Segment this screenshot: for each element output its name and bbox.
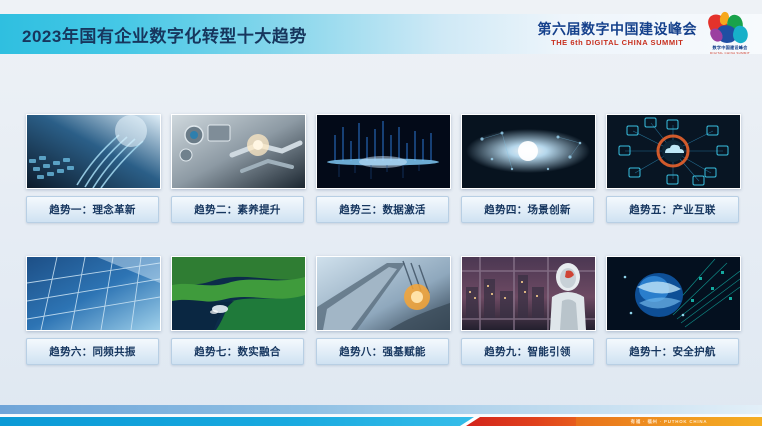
summit-logo-icon — [707, 12, 753, 44]
trend-card-6-label-box: 趋势六：同频共振 — [26, 338, 159, 365]
trend-card-5[interactable]: 趋势五：产业互联 — [606, 114, 739, 223]
footer-gradient-band — [0, 405, 762, 414]
trend-card-4-label-box: 趋势四：场景创新 — [461, 196, 594, 223]
trend-card-6[interactable]: 趋势六：同频共振 — [26, 256, 159, 365]
trend-row-1: 趋势一：理念革新 趋势二：素养提升 — [26, 114, 738, 223]
slide-root: 2023年国有企业数字化转型十大趋势 第六届数字中国建设峰会 THE 6th D… — [0, 0, 762, 429]
trend-card-1-label-box: 趋势一：理念革新 — [26, 196, 159, 223]
trend-card-7-label: 趋势七：数实融合 — [194, 344, 280, 359]
trend-card-4[interactable]: 趋势四：场景创新 — [461, 114, 594, 223]
trend-card-8-label-box: 趋势八：强基赋能 — [316, 338, 449, 365]
footer-bar-orange: 有福 · 福州 · PUTHOK CHINA — [576, 417, 762, 426]
trend-card-10-label: 趋势十：安全护航 — [629, 344, 715, 359]
trend-card-3-label-box: 趋势三：数据激活 — [316, 196, 449, 223]
footer-bar-blue — [0, 417, 474, 426]
trend-card-2-label-box: 趋势二：素养提升 — [171, 196, 304, 223]
blue-shield-circuit-image — [606, 256, 741, 331]
trend-card-10[interactable]: 趋势十：安全护航 — [606, 256, 739, 365]
trend-card-1[interactable]: 趋势一：理念革新 — [26, 114, 159, 223]
trend-card-9[interactable]: 趋势九：智能引领 — [461, 256, 594, 365]
trend-card-8-label: 趋势八：强基赋能 — [339, 344, 425, 359]
summit-banner: 第六届数字中国建设峰会 THE 6th DIGITAL CHINA SUMMIT… — [538, 12, 757, 56]
trend-card-2[interactable]: 趋势二：素养提升 — [171, 114, 304, 223]
trend-card-1-label: 趋势一：理念革新 — [49, 202, 135, 217]
summit-logo: 数字中国建设峰会 DIGITAL CHINA SUMMIT — [704, 12, 756, 56]
summit-banner-text: 第六届数字中国建设峰会 THE 6th DIGITAL CHINA SUMMIT — [538, 22, 698, 47]
footer-text: 有福 · 福州 · PUTHOK CHINA — [631, 419, 708, 425]
bridge-sunset-construction-image — [316, 256, 451, 331]
trend-card-7-label-box: 趋势七：数实融合 — [171, 338, 304, 365]
trend-card-10-label-box: 趋势十：安全护航 — [606, 338, 739, 365]
trend-card-8[interactable]: 趋势八：强基赋能 — [316, 256, 449, 365]
trend-card-3[interactable]: 趋势三：数据激活 — [316, 114, 449, 223]
light-burst-network-image — [461, 114, 596, 189]
trend-card-7[interactable]: 趋势七：数实融合 — [171, 256, 304, 365]
trend-card-9-label-box: 趋势九：智能引领 — [461, 338, 594, 365]
trend-card-2-label: 趋势二：素养提升 — [194, 202, 280, 217]
summit-logo-caption-en: DIGITAL CHINA SUMMIT — [710, 51, 750, 55]
summit-title-cn: 第六届数字中国建设峰会 — [538, 22, 698, 36]
trend-card-6-label: 趋势六：同频共振 — [49, 344, 135, 359]
trend-row-2: 趋势六：同频共振 趋势七：数实融合 — [26, 256, 738, 365]
page-title: 2023年国有企业数字化转型十大趋势 — [22, 22, 307, 47]
summit-title-en: THE 6th DIGITAL CHINA SUMMIT — [551, 39, 683, 47]
slide-footer: 有福 · 福州 · PUTHOK CHINA — [0, 405, 762, 429]
cloud-iot-network-image — [606, 114, 741, 189]
trend-card-3-label: 趋势三：数据激活 — [339, 202, 425, 217]
forest-river-aerial-image — [171, 256, 306, 331]
trend-card-4-label: 趋势四：场景创新 — [484, 202, 570, 217]
footer-bar-red — [466, 417, 582, 426]
solar-panel-array-image — [26, 256, 161, 331]
trend-card-5-label-box: 趋势五：产业互联 — [606, 196, 739, 223]
trend-card-grid: 趋势一：理念革新 趋势二：素养提升 — [26, 114, 738, 365]
robot-arm-control-panel-image — [171, 114, 306, 189]
trend-card-5-label: 趋势五：产业互联 — [629, 202, 715, 217]
blue-data-waveform-image — [316, 114, 451, 189]
keyboard-data-spiral-image — [26, 114, 161, 189]
trend-card-9-label: 趋势九：智能引领 — [484, 344, 570, 359]
humanoid-robot-city-image — [461, 256, 596, 331]
